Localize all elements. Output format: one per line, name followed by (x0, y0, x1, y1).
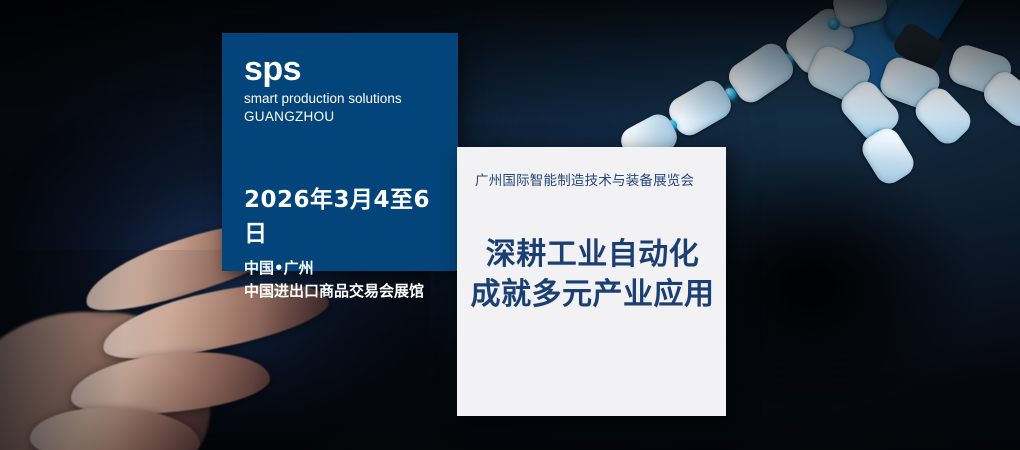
brand-tagline: smart production solutions (244, 90, 436, 108)
headline-line-2: 成就多元产业应用 (467, 275, 718, 315)
headline-line-1: 深耕工业自动化 (467, 235, 718, 275)
exhibition-subtitle: 广州国际智能制造技术与装备展览会 (475, 169, 716, 189)
event-location-country: 中国•广州 (244, 257, 436, 280)
event-location-venue: 中国进出口商品交易会展馆 (244, 280, 436, 303)
event-info-panel: sps smart production solutions GUANGZHOU… (222, 33, 458, 271)
event-date: 2026年3月4至6日 (244, 180, 436, 248)
background-top-shade (0, 0, 1020, 120)
headline-card: 广州国际智能制造技术与装备展览会 深耕工业自动化 成就多元产业应用 (457, 147, 726, 416)
brand-logo-sps: sps (244, 53, 436, 86)
headline-text: 深耕工业自动化 成就多元产业应用 (467, 235, 718, 314)
promotional-banner: sps smart production solutions GUANGZHOU… (0, 0, 1020, 450)
brand-city: GUANGZHOU (244, 108, 436, 126)
